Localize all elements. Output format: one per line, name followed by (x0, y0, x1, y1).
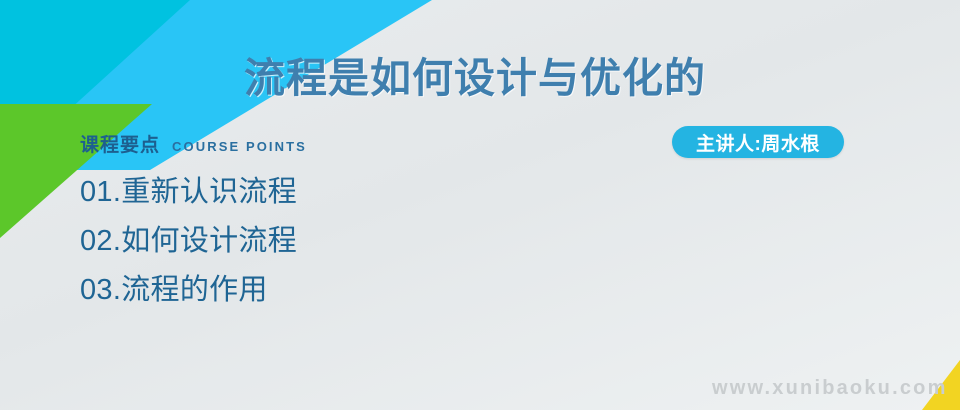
teal-wedge-shape (0, 0, 190, 120)
course-points-heading-cn: 课程要点 (80, 130, 160, 157)
list-item: 02.如何设计流程 (80, 217, 297, 266)
list-item: 03.流程的作用 (80, 266, 297, 315)
speaker-badge: 主讲人:周水根 (672, 126, 844, 158)
page-title: 流程是如何设计与优化的 (244, 44, 706, 104)
watermark-text: www.xunibaoku.com (712, 377, 948, 400)
list-item: 01.重新认识流程 (80, 168, 297, 217)
slide-canvas: 流程是如何设计与优化的 课程要点 COURSE POINTS 01.重新认识流程… (0, 0, 960, 410)
course-points-heading: 课程要点 COURSE POINTS (80, 130, 307, 157)
course-points-heading-en: COURSE POINTS (172, 139, 307, 154)
course-points-list: 01.重新认识流程 02.如何设计流程 03.流程的作用 (80, 168, 297, 315)
